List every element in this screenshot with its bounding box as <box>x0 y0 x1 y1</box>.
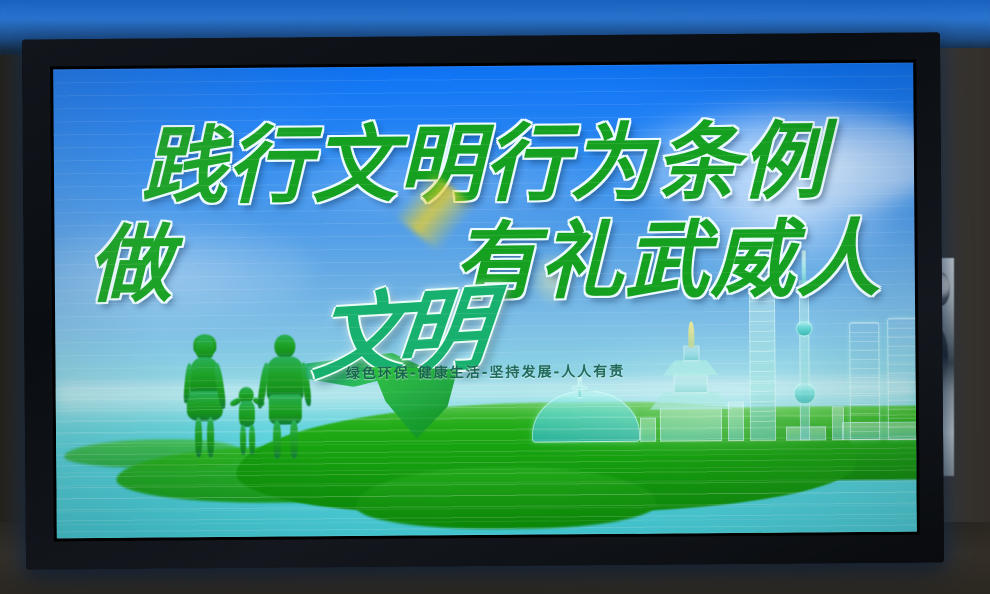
child-leg-left <box>240 425 246 455</box>
pagoda-roof-1 <box>650 392 732 410</box>
child-torso <box>239 401 255 427</box>
small-building-d <box>640 418 656 442</box>
pearl-tower-sphere-lower <box>794 382 816 404</box>
pagoda-base <box>660 407 722 441</box>
room-scene: 践行文明行为条例 做 有礼武威人 文明 绿色环保-健康生活-坚持发展-人人有责 <box>0 0 990 594</box>
father-leg-right <box>290 420 298 458</box>
mother-leg-left <box>195 417 202 457</box>
headline-line-1: 践行文明行为条例 <box>54 119 915 210</box>
father-leg-left <box>273 421 281 459</box>
pagoda-top <box>683 345 699 361</box>
small-building-a <box>728 401 744 441</box>
headline-line-2-suffix: 有礼武威人 <box>453 210 882 311</box>
headline-line-2-prefix: 做 <box>87 215 173 314</box>
child-leg-right <box>249 425 255 455</box>
mother-leg-right <box>207 417 214 457</box>
twin-tower-left <box>849 322 880 440</box>
pagoda-finial <box>688 321 694 347</box>
dome-hall-building <box>532 390 640 443</box>
led-video-wall[interactable]: 践行文明行为条例 做 有礼武威人 文明 绿色环保-健康生活-坚持发展-人人有责 <box>22 32 944 569</box>
display-screen[interactable]: 践行文明行为条例 做 有礼武威人 文明 绿色环保-健康生活-坚持发展-人人有责 <box>53 63 917 539</box>
pearl-tower-sphere-upper <box>796 320 812 336</box>
